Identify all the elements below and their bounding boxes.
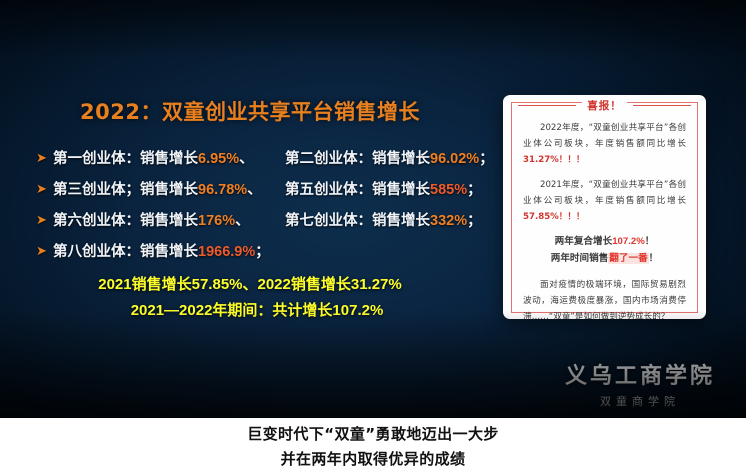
card-highlight-2-pre: 两年时间销售: [551, 253, 609, 264]
card-highlight-1: 两年复合增长107.2%！: [523, 234, 686, 249]
card-paragraph-2-value: 57.85%: [523, 212, 559, 222]
bullet-left-label: 第一创业体：销售增长: [53, 151, 198, 167]
caption-line-2: 并在两年内取得优异的成绩: [281, 447, 466, 472]
institution-logo: 义乌工商学院 双童商学院: [540, 358, 740, 409]
bullet-left-cell: 第八创业体：销售增长1966.9%；: [53, 240, 285, 261]
card-highlight-2-post: ！: [649, 253, 659, 264]
logo-line-1: 义乌工商学院: [540, 358, 740, 390]
good-news-card: 喜报！ 2022年度，“双童创业共享平台”各创业体公司板块，年度销售额同比增长3…: [503, 95, 706, 319]
card-header-title: 喜报！: [582, 98, 627, 113]
card-paragraph-1: 2022年度，“双童创业共享平台”各创业体公司板块，年度销售额同比增长31.27…: [523, 120, 686, 168]
summary-line-2: 2021—2022年期间：共计增长107.2%: [0, 298, 500, 324]
card-highlight-1-pre: 两年复合增长: [555, 236, 613, 247]
bullet-right-label: 第五创业体：销售增长: [285, 182, 430, 198]
summary-block: 2021销售增长57.85%、2022销售增长31.27% 2021—2022年…: [0, 272, 500, 324]
list-item: ➤ 第三创业体；销售增长96.78%、 第五创业体：销售增长585%；: [36, 173, 500, 204]
card-body: 2022年度，“双童创业共享平台”各创业体公司板块，年度销售额同比增长31.27…: [512, 116, 697, 319]
bullet-right-value: 96.02%: [430, 151, 479, 167]
card-header-rule-left: [518, 105, 576, 106]
card-reflection: [503, 320, 706, 374]
bullet-arrow-icon: ➤: [36, 182, 53, 195]
card-highlight-2: 两年时间销售翻了一番！: [523, 251, 686, 266]
slide-left-column: 2022：双童创业共享平台销售增长 ➤ 第一创业体：销售增长6.95%、 第二创…: [0, 96, 500, 324]
list-item: ➤ 第六创业体：销售增长176%、 第七创业体：销售增长332%；: [36, 204, 500, 235]
card-paragraph-3: 面对疫情的极端环境，国际贸易剧烈波动，海运费极度暴涨，国内市场消费停滞……“双童…: [523, 277, 686, 319]
card-paragraph-2: 2021年度，“双童创业共享平台”各创业体公司板块，年度销售额同比增长57.85…: [523, 177, 686, 225]
list-item: ➤ 第八创业体：销售增长1966.9%；: [36, 235, 500, 266]
bullet-left-label: 第八创业体：销售增长: [53, 244, 198, 260]
bullet-arrow-icon: ➤: [36, 244, 53, 257]
bullet-arrow-icon: ➤: [36, 151, 53, 164]
bullet-right-cell: 第七创业体：销售增长332%；: [285, 209, 482, 230]
card-paragraph-1-pre: 2022年度，“双童创业共享平台”各创业体公司板块，年度销售额同比增长: [523, 123, 686, 149]
bullet-arrow-icon: ➤: [36, 213, 53, 226]
presentation-slide: 2022：双童创业共享平台销售增长 ➤ 第一创业体：销售增长6.95%、 第二创…: [0, 0, 746, 418]
bullet-right-cell: 第二创业体：销售增长96.02%；: [285, 147, 494, 168]
card-paragraph-1-value: 31.27%: [523, 155, 559, 165]
card-paragraph-1-post: ！！！: [559, 155, 585, 165]
bullet-left-cell: 第三创业体；销售增长96.78%、: [53, 178, 285, 199]
bullet-left-cell: 第六创业体：销售增长176%、: [53, 209, 285, 230]
card-highlight-2-value: 翻了一番: [608, 253, 648, 264]
bullet-left-value: 6.95%: [198, 151, 239, 167]
bullet-left-label: 第三创业体；销售增长: [53, 182, 198, 198]
list-item: ➤ 第一创业体：销售增长6.95%、 第二创业体：销售增长96.02%；: [36, 142, 500, 173]
bullet-left-value: 96.78%: [198, 182, 247, 198]
bullet-right-tail: ；: [467, 213, 482, 229]
slide-title: 2022：双童创业共享平台销售增长: [0, 96, 500, 126]
card-paragraph-2-pre: 2021年度，“双童创业共享平台”各创业体公司板块，年度销售额同比增长: [523, 180, 686, 206]
bullet-right-tail: ；: [479, 151, 494, 167]
growth-bullet-list: ➤ 第一创业体：销售增长6.95%、 第二创业体：销售增长96.02%； ➤ 第…: [0, 142, 500, 266]
bullet-left-value: 1966.9%: [198, 244, 255, 260]
card-paragraph-2-post: ！！！: [559, 212, 585, 222]
slide-screenshot: 2022：双童创业共享平台销售增长 ➤ 第一创业体：销售增长6.95%、 第二创…: [0, 0, 746, 476]
bullet-right-label: 第七创业体：销售增长: [285, 213, 430, 229]
logo-line-2: 双童商学院: [540, 393, 740, 409]
bullet-left-cell: 第一创业体：销售增长6.95%、: [53, 147, 285, 168]
card-highlight-1-post: ！: [645, 236, 655, 247]
bullet-left-label: 第六创业体：销售增长: [53, 213, 198, 229]
bullet-left-tail: 、: [239, 151, 254, 167]
bullet-left-tail: ；: [255, 244, 270, 260]
bullet-left-value: 176%: [198, 213, 235, 229]
caption-line-1: 巨变时代下“双童”勇敢地迈出一大步: [247, 422, 499, 447]
bullet-right-value: 332%: [430, 213, 467, 229]
bullet-left-tail: 、: [235, 213, 250, 229]
card-highlight-1-value: 107.2%: [612, 236, 645, 247]
bullet-right-value: 585%: [430, 182, 467, 198]
bullet-right-tail: ；: [467, 182, 482, 198]
card-header-rule-right: [633, 105, 691, 106]
bullet-left-tail: 、: [247, 182, 262, 198]
card-header: 喜报！: [512, 95, 697, 116]
card-inner-frame: 喜报！ 2022年度，“双童创业共享平台”各创业体公司板块，年度销售额同比增长3…: [511, 102, 698, 313]
bullet-right-cell: 第五创业体：销售增长585%；: [285, 178, 482, 199]
bottom-caption: 巨变时代下“双童”勇敢地迈出一大步 并在两年内取得优异的成绩: [0, 418, 746, 476]
summary-line-1: 2021销售增长57.85%、2022销售增长31.27%: [0, 272, 500, 298]
bullet-right-label: 第二创业体：销售增长: [285, 151, 430, 167]
